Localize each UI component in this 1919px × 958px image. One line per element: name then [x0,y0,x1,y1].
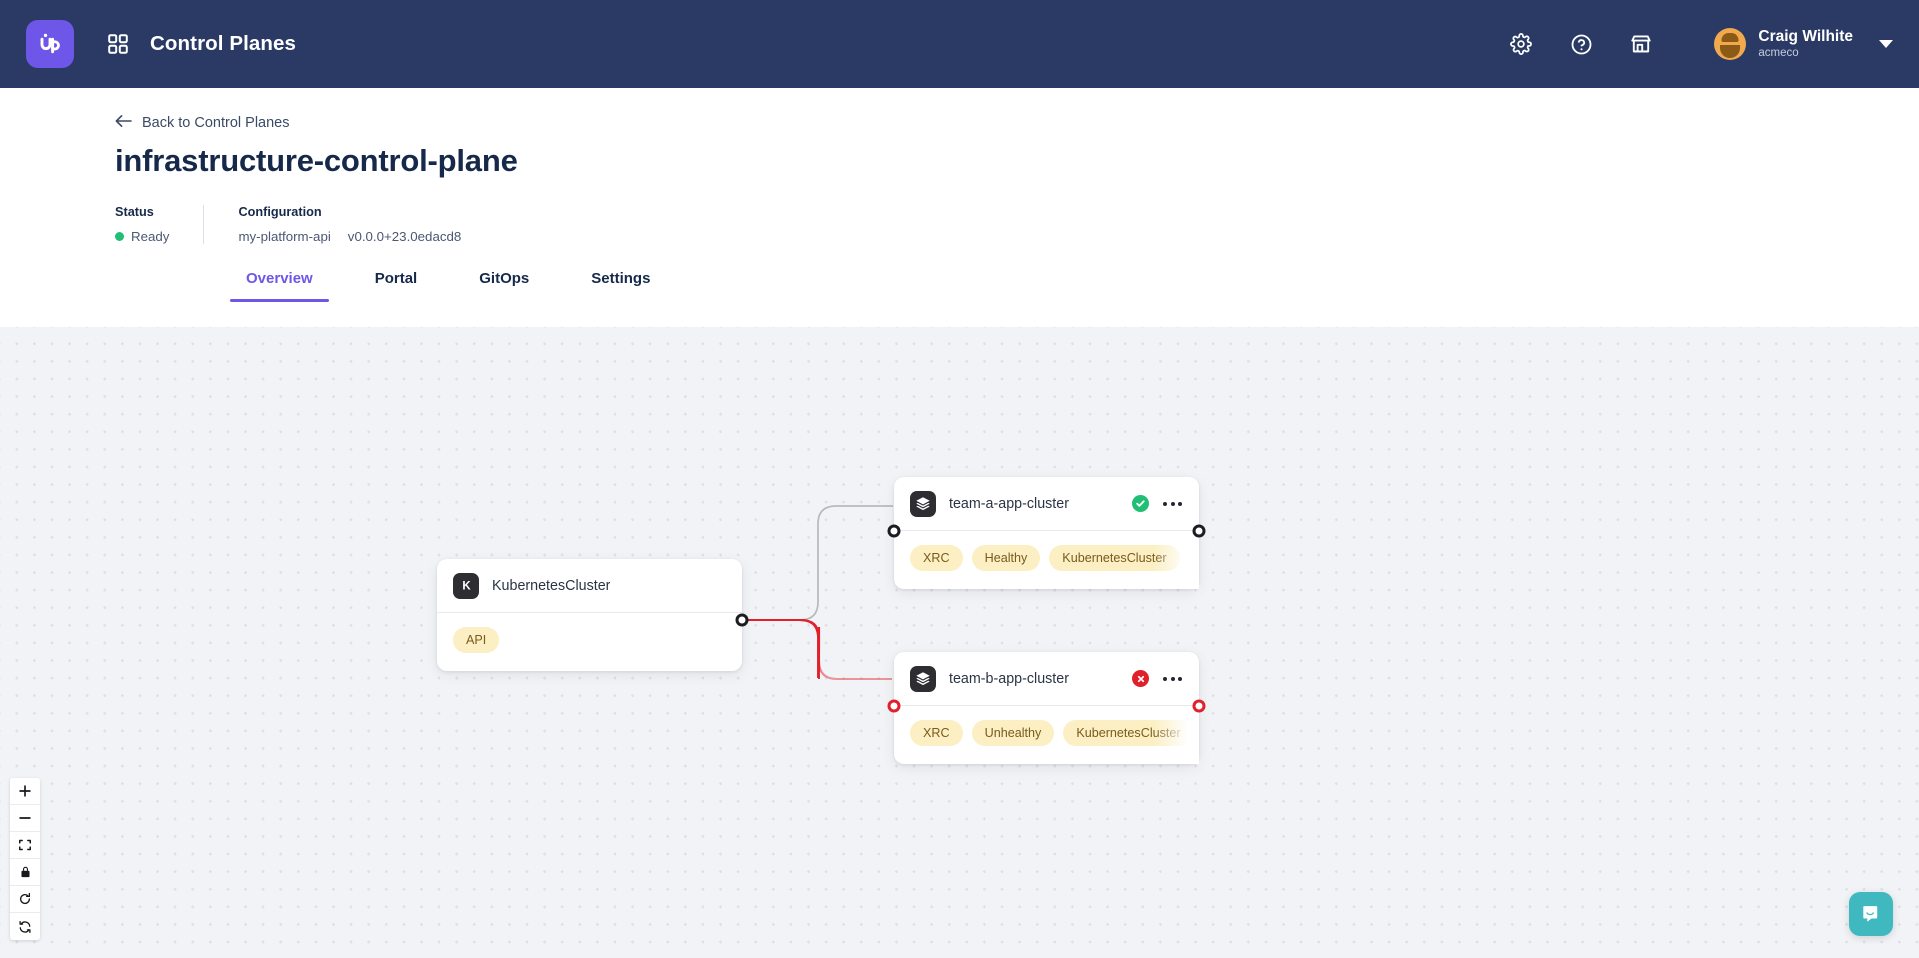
layers-stack-icon [910,491,936,517]
node-header: team-a-app-cluster [894,477,1199,531]
node-handle-right[interactable] [736,614,749,627]
edge-k8s-to-team-b-seg1 [742,620,818,678]
status-value: Ready [131,229,169,244]
node-body: XRC Healthy KubernetesCluster [894,531,1199,589]
configuration-label: Configuration [238,205,461,219]
avatar [1714,28,1746,60]
node-title: KubernetesCluster [492,578,610,594]
grid-icon [108,34,128,54]
node-title: team-b-app-cluster [949,671,1069,687]
tab-bar: Overview Portal GitOps Settings [115,270,1919,302]
edge-k8s-to-team-b-seg2 [742,620,819,679]
page-header: Back to Control Planes infrastructure-co… [0,88,1919,302]
node-handle-left[interactable] [888,525,901,538]
configuration-version: v0.0.0+23.0edacd8 [348,229,462,244]
node-handle-right[interactable] [1193,525,1206,538]
tab-overview[interactable]: Overview [230,270,329,302]
node-handle-left[interactable] [888,700,901,713]
page-title: infrastructure-control-plane [115,143,1919,179]
node-tag: XRC [910,720,963,746]
node-header: team-b-app-cluster [894,652,1199,706]
top-nav-actions: Craig Wilhite acmeco [1506,28,1893,60]
kubernetes-k-icon: K [453,573,479,599]
graph-canvas[interactable]: K KubernetesCluster API team-a-app-clust… [0,327,1919,958]
node-team-a-app-cluster[interactable]: team-a-app-cluster XRC Healthy Kubernete… [894,477,1199,589]
node-header: K KubernetesCluster [437,559,742,613]
zoom-out-button[interactable] [10,805,40,832]
lock-button[interactable] [10,859,40,886]
user-org: acmeco [1758,47,1853,60]
node-tag: Healthy [972,545,1041,571]
tab-portal[interactable]: Portal [359,270,434,302]
node-tag: XRC [910,545,963,571]
marketplace-store-icon[interactable] [1626,29,1656,59]
app-title: Control Planes [150,32,296,56]
zoom-in-button[interactable] [10,778,40,805]
x-circle-icon [1132,670,1149,687]
status-dot-icon [115,232,124,241]
back-to-control-planes-link[interactable]: Back to Control Planes [115,114,290,132]
svg-text:K: K [462,581,471,593]
check-circle-icon [1132,495,1149,512]
node-handle-right[interactable] [1193,700,1206,713]
status-block: Status Ready [115,205,203,244]
node-body: XRC Unhealthy KubernetesCluster [894,706,1199,764]
chat-widget-button[interactable] [1849,892,1893,936]
configuration-block: Configuration my-platform-api v0.0.0+23.… [203,205,495,244]
edge-k8s-to-team-a [742,506,893,620]
arrow-left-icon [115,114,132,132]
tab-gitops[interactable]: GitOps [463,270,545,302]
chevron-down-icon[interactable] [1879,40,1893,48]
layers-stack-icon [910,666,936,692]
node-tag: KubernetesCluster [1063,720,1193,746]
node-tag: API [453,627,499,653]
graph-edges [0,327,1919,958]
configuration-name[interactable]: my-platform-api [238,229,330,244]
canvas-controls [10,778,40,940]
node-team-b-app-cluster[interactable]: team-b-app-cluster XRC Unhealthy Kuberne… [894,652,1199,764]
node-title: team-a-app-cluster [949,496,1069,512]
tab-settings[interactable]: Settings [575,270,666,302]
edge-k8s-to-team-b-solid [742,620,819,638]
page-meta: Status Ready Configuration my-platform-a… [115,205,1919,244]
refresh-button[interactable] [10,913,40,940]
help-circle-icon[interactable] [1566,29,1596,59]
node-tag: Unhealthy [972,720,1055,746]
status-badge: Ready [115,229,169,244]
settings-gear-icon[interactable] [1506,29,1536,59]
node-tag: KubernetesCluster [1049,545,1179,571]
user-name: Craig Wilhite [1758,28,1853,45]
status-label: Status [115,205,169,219]
top-navigation-bar: Control Planes [0,0,1919,88]
back-link-label: Back to Control Planes [142,115,290,131]
up-logo[interactable] [26,20,74,68]
node-body: API [437,613,742,671]
edge-k8s-to-team-b [800,620,892,679]
more-horizontal-icon[interactable] [1162,673,1183,685]
reset-layout-button[interactable] [10,886,40,913]
user-menu[interactable]: Craig Wilhite acmeco [1714,28,1893,60]
fit-view-button[interactable] [10,832,40,859]
more-horizontal-icon[interactable] [1162,498,1183,510]
node-kubernetes-cluster[interactable]: K KubernetesCluster API [437,559,742,671]
